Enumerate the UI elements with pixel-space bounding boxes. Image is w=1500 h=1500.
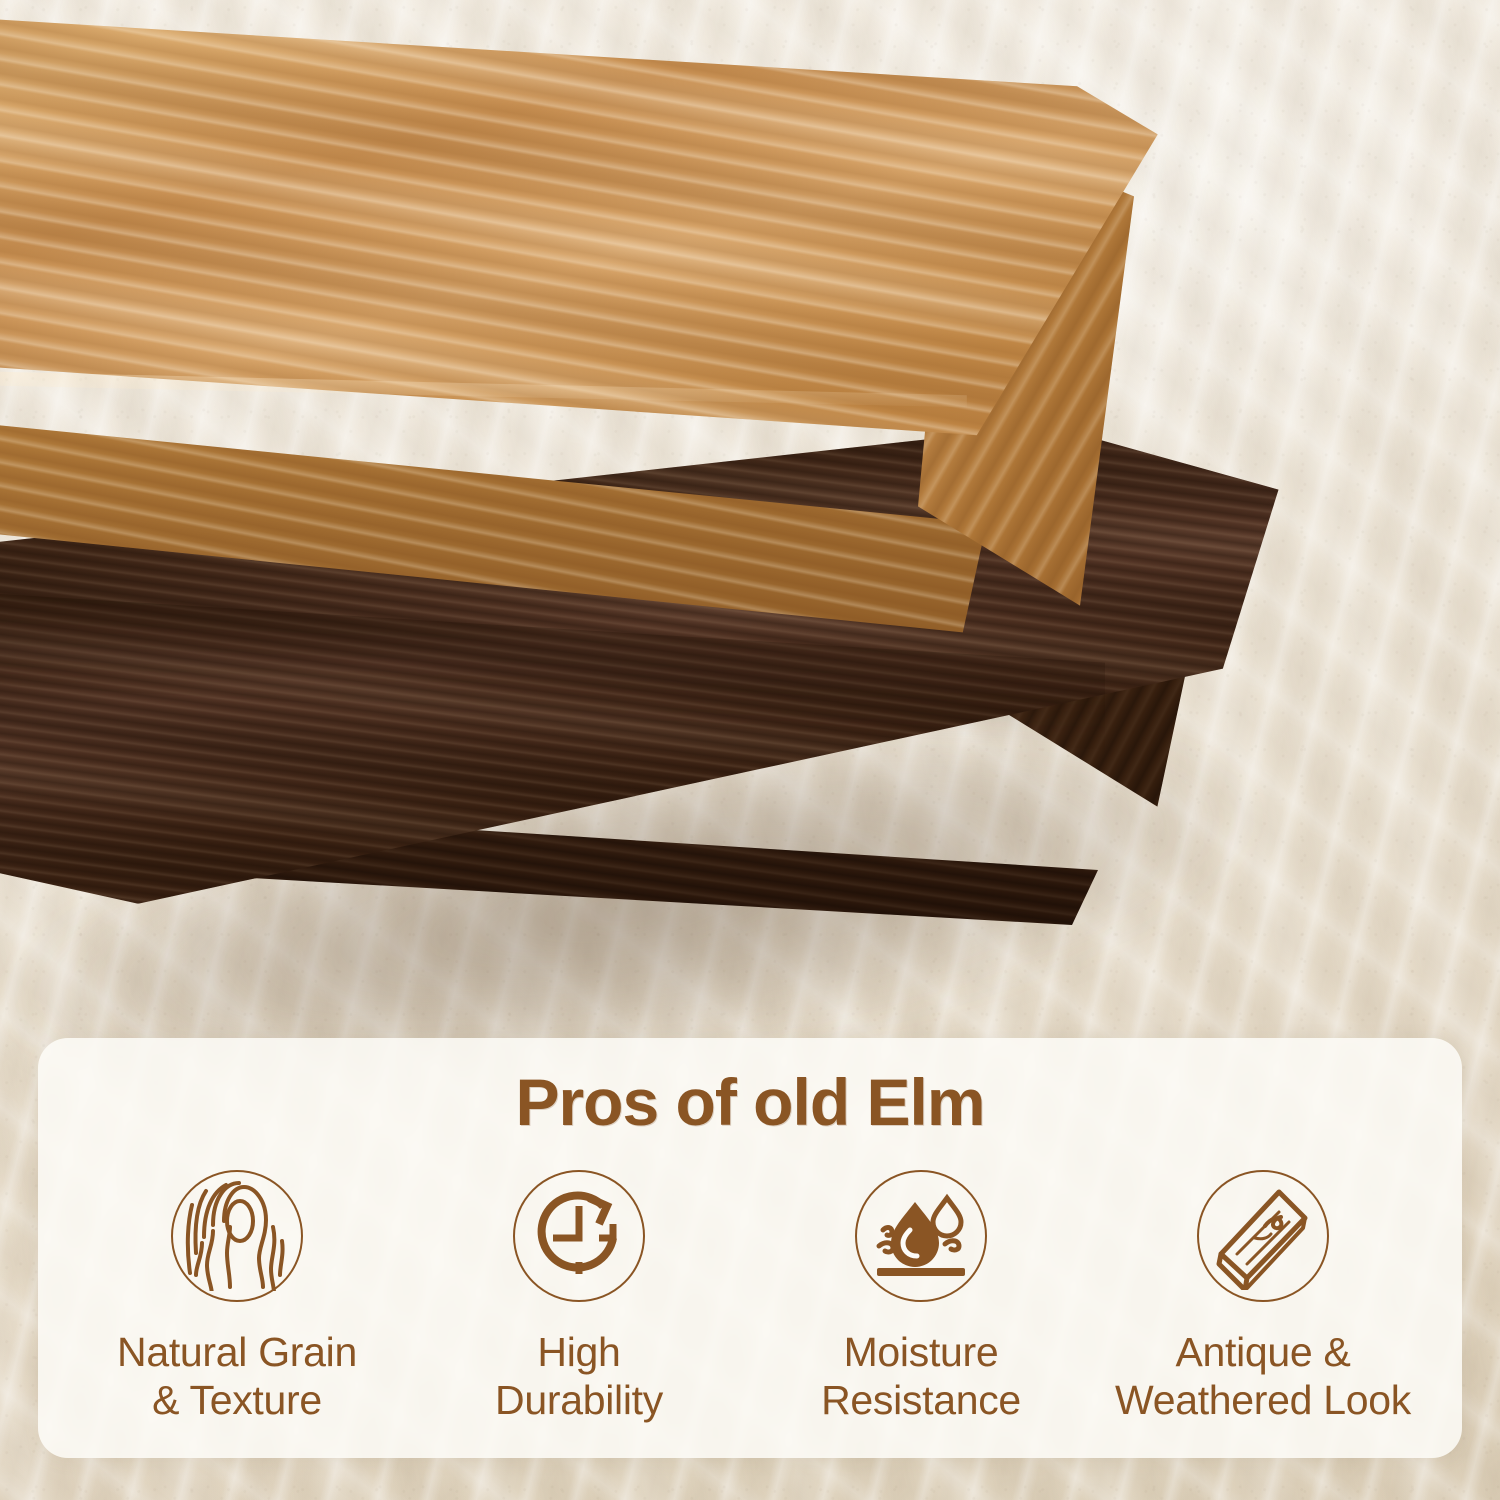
feature-antique-look: Antique & Weathered Look (1092, 1170, 1434, 1425)
feature-label: Moisture Resistance (821, 1328, 1021, 1425)
feature-label: Natural Grain & Texture (117, 1328, 357, 1425)
product-feature-graphic: Pros of old Elm (0, 0, 1500, 1500)
feature-label: High Durability (495, 1328, 663, 1425)
wood-grain-icon (171, 1170, 303, 1302)
feature-list: Natural Grain & Texture High Durability (66, 1170, 1434, 1425)
pros-info-card: Pros of old Elm (38, 1038, 1462, 1458)
wood-plank-icon (1197, 1170, 1329, 1302)
feature-moisture-resistance: Moisture Resistance (750, 1170, 1092, 1425)
clock-refresh-icon (513, 1170, 645, 1302)
water-droplet-repel-icon (855, 1170, 987, 1302)
feature-high-durability: High Durability (408, 1170, 750, 1425)
card-title: Pros of old Elm (38, 1064, 1462, 1140)
feature-natural-grain: Natural Grain & Texture (66, 1170, 408, 1425)
feature-label: Antique & Weathered Look (1115, 1328, 1411, 1425)
